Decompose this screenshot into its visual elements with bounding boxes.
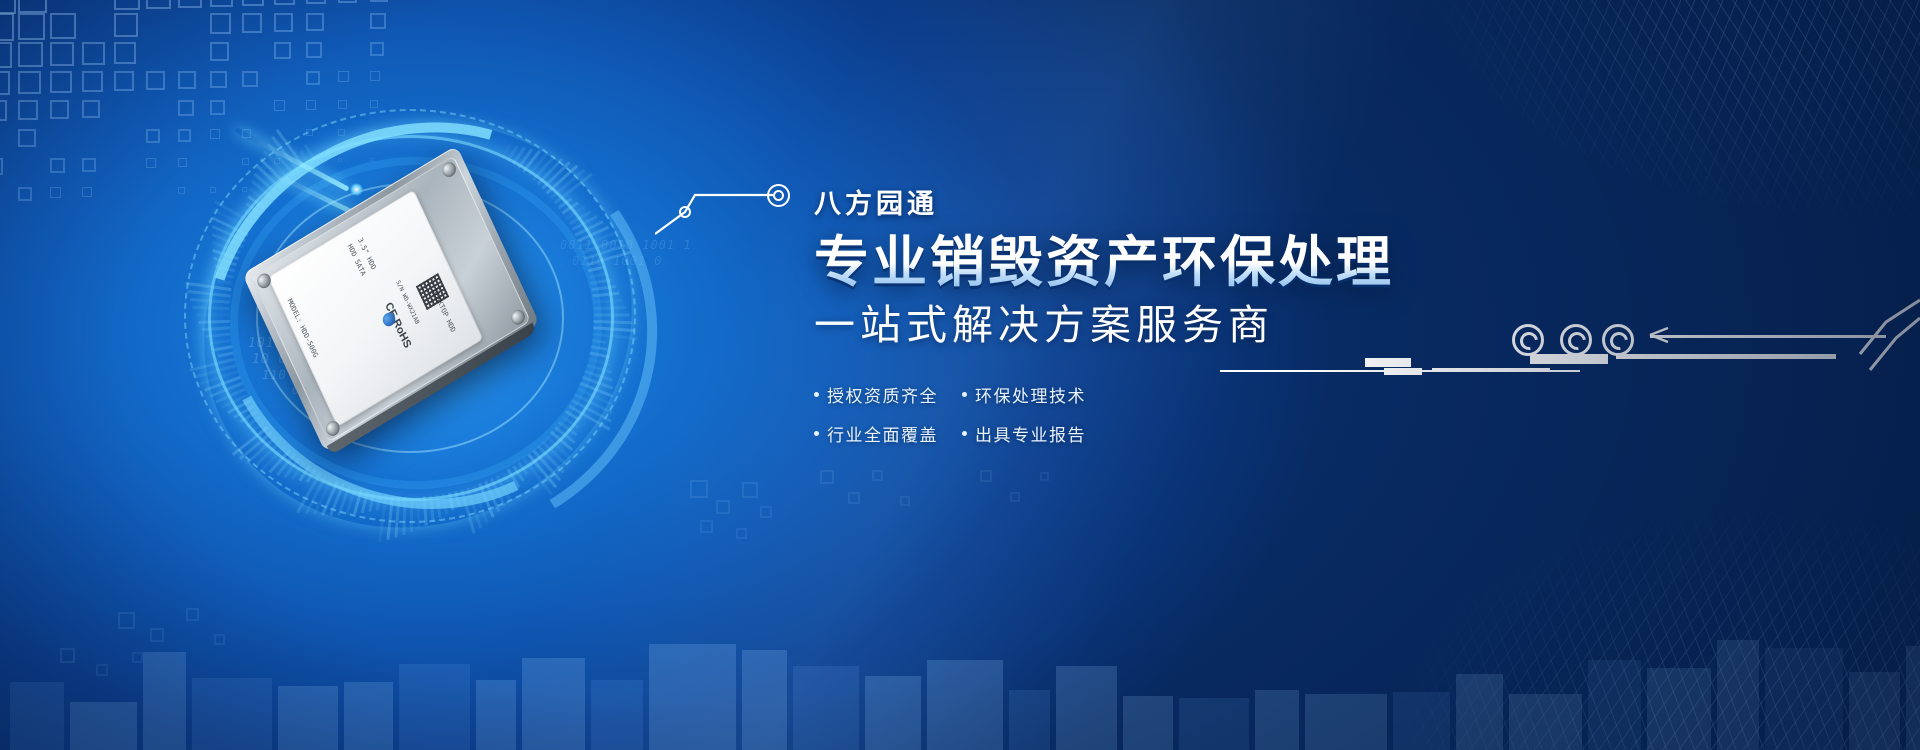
accent-square bbox=[118, 612, 135, 629]
grid-square bbox=[0, 158, 3, 175]
skyline-building bbox=[1123, 696, 1173, 750]
headline: 专业销毁资产环保处理 bbox=[814, 233, 1594, 291]
accent-square bbox=[760, 506, 772, 518]
accent-square bbox=[1040, 472, 1049, 481]
light-streak-dot bbox=[350, 183, 363, 196]
grid-square bbox=[50, 158, 65, 173]
accent-square bbox=[716, 500, 730, 514]
grid-square bbox=[18, 100, 38, 120]
accent-square bbox=[900, 496, 910, 506]
grid-square bbox=[210, 0, 233, 7]
skyline-building bbox=[1255, 690, 1299, 750]
grid-square bbox=[114, 13, 138, 37]
grid-square bbox=[82, 71, 103, 92]
connector-svg bbox=[655, 168, 815, 238]
grid-square bbox=[306, 13, 324, 31]
skyline-building bbox=[476, 680, 515, 750]
skyline-building bbox=[70, 702, 137, 750]
grid-square bbox=[370, 42, 384, 56]
grid-square bbox=[370, 0, 388, 2]
grid-square bbox=[274, 0, 295, 5]
bullet-dot bbox=[814, 392, 819, 397]
grid-square bbox=[242, 0, 264, 6]
accent-square bbox=[742, 482, 758, 498]
grid-square bbox=[210, 13, 231, 34]
grid-square bbox=[242, 13, 262, 33]
feature-label: 环保处理技术 bbox=[975, 382, 1086, 407]
skyline-building bbox=[1179, 698, 1249, 750]
brand-name: 八方园通 bbox=[814, 182, 1594, 221]
bullet-dot bbox=[962, 392, 967, 397]
grid-square bbox=[146, 158, 156, 168]
grid-square bbox=[114, 0, 140, 10]
grid-square bbox=[18, 187, 32, 201]
grid-square bbox=[50, 187, 61, 198]
grid-square bbox=[82, 100, 100, 118]
grid-square bbox=[18, 0, 47, 13]
feature-label: 授权资质齐全 bbox=[827, 382, 938, 407]
grid-square bbox=[178, 0, 202, 8]
grid-square bbox=[18, 129, 36, 147]
skyline-building bbox=[1849, 672, 1900, 750]
grid-square bbox=[18, 42, 43, 67]
skyline-building bbox=[278, 686, 338, 750]
accent-square bbox=[150, 628, 164, 642]
skyline-building bbox=[1765, 648, 1843, 750]
grid-square bbox=[0, 13, 14, 41]
accent-square bbox=[1010, 492, 1020, 502]
city-skyline bbox=[0, 620, 1920, 750]
accent-square bbox=[690, 480, 708, 498]
grid-square bbox=[114, 42, 136, 64]
grid-square bbox=[82, 158, 96, 172]
grid-square bbox=[50, 42, 74, 66]
grid-square bbox=[274, 13, 293, 32]
accent-square bbox=[214, 634, 225, 645]
skyline-building bbox=[1588, 660, 1641, 750]
skyline-building bbox=[192, 678, 273, 750]
skyline-building bbox=[1647, 668, 1711, 750]
accent-square bbox=[186, 608, 199, 621]
bullet-dot bbox=[962, 431, 967, 436]
accent-square bbox=[820, 470, 834, 484]
skyline-building bbox=[143, 652, 185, 750]
skyline-building bbox=[865, 676, 921, 750]
grid-square bbox=[0, 71, 10, 95]
skyline-building bbox=[1393, 692, 1450, 750]
grid-square bbox=[306, 0, 326, 4]
grid-square bbox=[370, 13, 386, 29]
feature-label: 行业全面覆盖 bbox=[827, 421, 938, 446]
grid-square bbox=[50, 100, 69, 119]
grid-square bbox=[50, 71, 72, 93]
skyline-building bbox=[927, 660, 1003, 750]
skyline-building bbox=[522, 658, 585, 750]
skyline-building bbox=[1509, 694, 1582, 750]
hero-copy: 八方园通 专业销毁资产环保处理 一站式解决方案服务商 授权资质齐全环保处理技术行… bbox=[814, 182, 1594, 446]
feature-item: 行业全面覆盖 bbox=[814, 421, 946, 446]
skyline-building bbox=[1906, 646, 1920, 750]
grid-square bbox=[18, 13, 45, 40]
grid-square bbox=[0, 0, 16, 14]
grid-square bbox=[0, 42, 12, 68]
skyline-building bbox=[793, 666, 859, 750]
grid-square bbox=[82, 187, 92, 197]
accent-square bbox=[700, 520, 713, 533]
accent-square bbox=[96, 664, 108, 676]
grid-square bbox=[0, 100, 7, 121]
accent-square bbox=[60, 648, 75, 663]
skyline-building bbox=[1456, 674, 1503, 750]
accent-square bbox=[980, 470, 992, 482]
skyline-building bbox=[344, 682, 392, 750]
skyline-building bbox=[1009, 690, 1050, 750]
feature-item: 授权资质齐全 bbox=[814, 382, 946, 407]
feature-item: 环保处理技术 bbox=[962, 382, 1102, 407]
grid-square bbox=[274, 42, 291, 59]
product-visual: HDD SATA 3.5" HDD MODEL: HDD-500G S/N WD… bbox=[170, 105, 650, 525]
skyline-building bbox=[649, 644, 736, 750]
connector-node-inner bbox=[773, 190, 784, 201]
skyline-building bbox=[742, 650, 787, 750]
grid-square bbox=[210, 42, 229, 61]
grid-square bbox=[338, 0, 357, 3]
skyline-building bbox=[1056, 666, 1117, 750]
hero-banner: 1011 0010 1001 1001 10 01: 1011 0010 110… bbox=[0, 0, 1920, 750]
accent-square bbox=[872, 470, 883, 481]
accent-square bbox=[132, 652, 143, 663]
feature-list: 授权资质齐全环保处理技术行业全面覆盖出具专业报告 bbox=[814, 382, 1594, 446]
feature-label: 出具专业报告 bbox=[975, 421, 1086, 446]
feature-item: 出具专业报告 bbox=[962, 421, 1102, 446]
accent-square bbox=[848, 492, 860, 504]
skyline-building bbox=[399, 664, 471, 750]
subheadline: 一站式解决方案服务商 bbox=[814, 303, 1594, 348]
grid-square bbox=[146, 129, 160, 143]
bullet-dot bbox=[814, 431, 819, 436]
grid-square bbox=[306, 42, 322, 58]
connector-line bbox=[655, 168, 815, 238]
skyline-building bbox=[10, 682, 64, 750]
skyline-building bbox=[1717, 640, 1759, 750]
grid-square bbox=[18, 71, 41, 94]
grid-square bbox=[50, 13, 76, 39]
skyline-building bbox=[591, 680, 644, 750]
skyline-building bbox=[1305, 694, 1387, 750]
accent-square bbox=[736, 528, 747, 539]
grid-square bbox=[82, 42, 105, 65]
grid-square bbox=[146, 0, 171, 9]
grid-square bbox=[114, 71, 134, 91]
